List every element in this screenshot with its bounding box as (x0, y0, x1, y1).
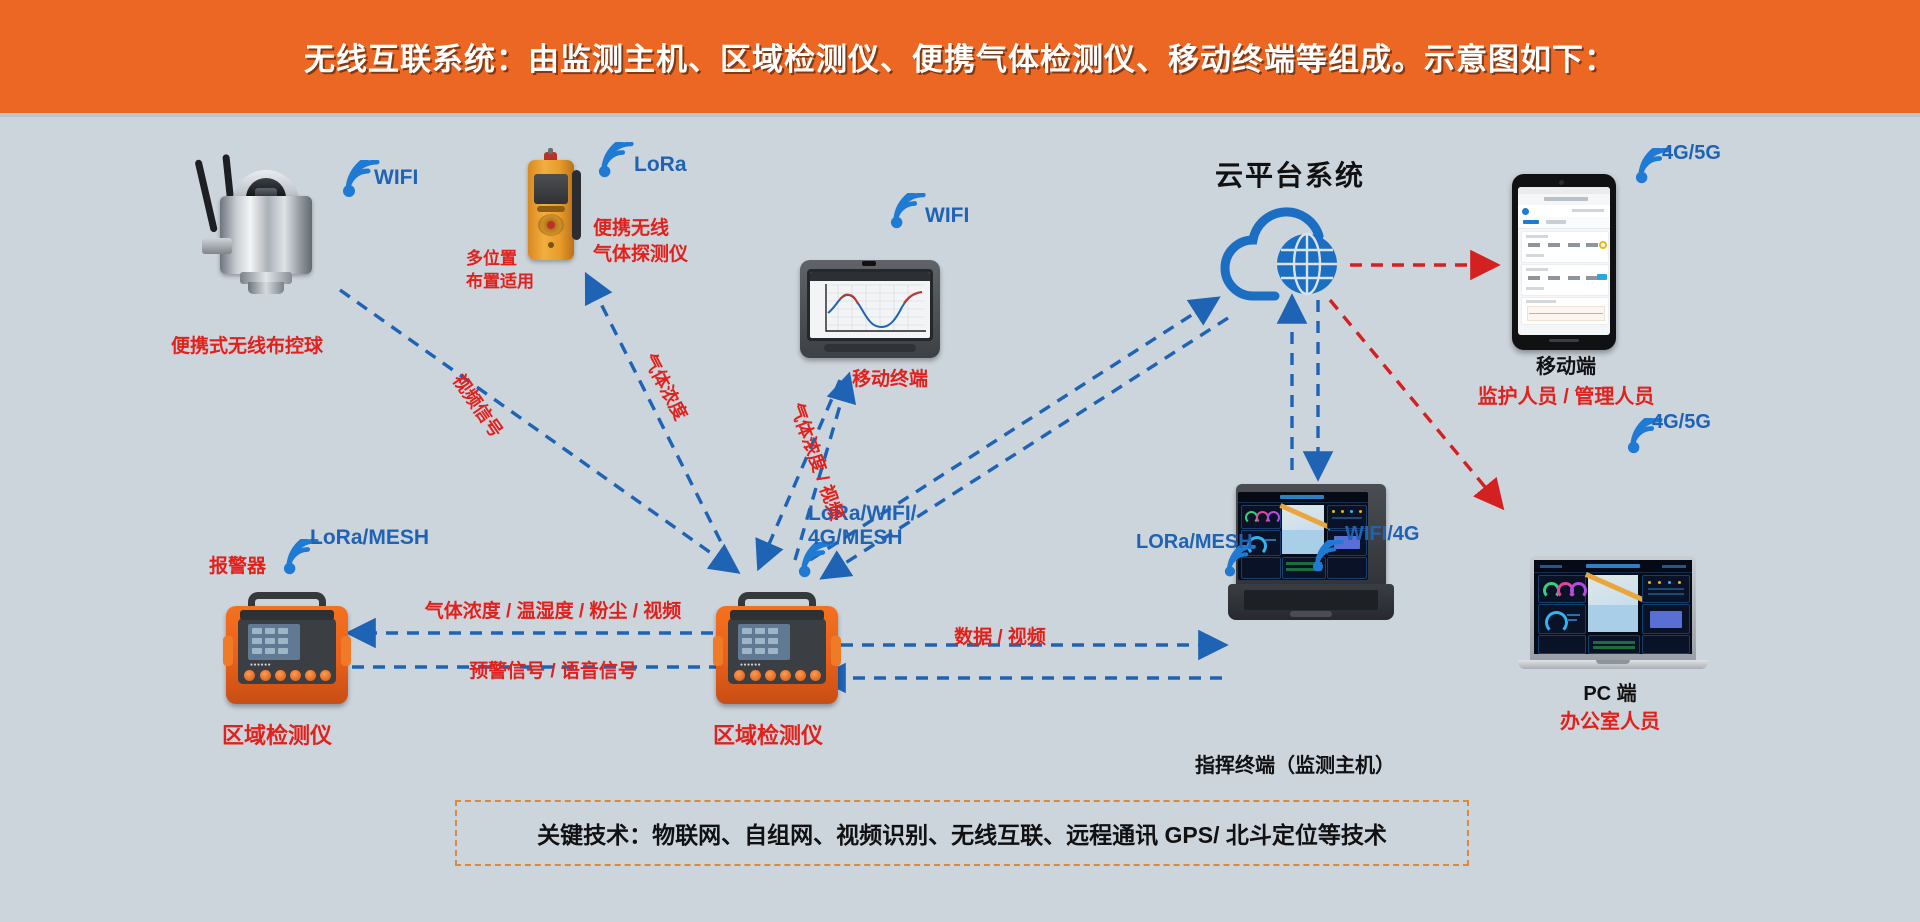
wifi-label-camera-ball: WIFI (374, 165, 418, 191)
pc-label: PC 端 (1583, 682, 1636, 707)
detector-bumper-left (713, 636, 723, 666)
wifi-icon-mobile-terminal (888, 193, 930, 231)
camera-ball-device (196, 148, 336, 298)
key-technologies-text: 关键技术：物联网、自组网、视频识别、无线互联、远程通讯 GPS/ 北斗定位等技术 (537, 816, 1387, 850)
camera-ball-label: 便携式无线布控球 (171, 335, 323, 359)
detector-speaker-hole (548, 242, 554, 248)
portable-detector-note-line1: 多位置 (466, 248, 517, 269)
lora-mesh-label-terminal: LORa/MESH (1136, 530, 1253, 555)
area-detector-left-label: 区域检测仪 (222, 722, 332, 750)
link-label-video-signal: 视频信号 (448, 370, 508, 442)
phone-tabs (1518, 217, 1610, 229)
link-label-detector-to-center: 气体浓度 / 温湿度 / 粉尘 / 视频 (425, 600, 682, 624)
phone-card-stats-1 (1521, 231, 1609, 263)
diagram-canvas: 无线互联系统：由监测主机、区域检测仪、便携气体检测仪、移动终端等组成。示意图如下… (0, 0, 1920, 922)
command-terminal-label: 指挥终端（监测主机） (1195, 754, 1395, 779)
antenna-left (194, 159, 217, 233)
tablet-bezel (807, 269, 933, 341)
area-detector-left-device: ●●●●●● (226, 592, 348, 704)
tablet-screen (810, 272, 930, 338)
detector-knob-row (242, 668, 332, 684)
tablet-bottom-bar (824, 344, 916, 352)
detector-keypad (538, 214, 564, 236)
lora-icon-portable-detector (596, 142, 638, 180)
lora-label-portable-detector: LoRa (634, 152, 687, 178)
phone-screen (1518, 187, 1610, 335)
laptop-base (1518, 660, 1708, 669)
mobile-phone-device (1512, 174, 1616, 350)
header-divider (0, 113, 1920, 117)
dashboard-header (1534, 560, 1692, 573)
phone-home-indicator (1549, 339, 1579, 342)
terminal-dashboard-header (1238, 492, 1368, 503)
wifi-4g-label-terminal: WIFI/4G (1345, 522, 1419, 547)
key-technologies-box: 关键技术：物联网、自组网、视频识别、无线互联、远程通讯 GPS/ 北斗定位等技术 (455, 800, 1469, 866)
terminal-touchpad (1290, 611, 1332, 617)
link-label-data-video: 数据 / 视频 (954, 626, 1046, 650)
lora-mesh-label-left-detector: LoRa/MESH (310, 525, 429, 551)
dashboard-widget-left-bottom (1538, 635, 1586, 654)
portable-gas-detector-device (528, 152, 588, 262)
area-detector-center-label: 区域检测仪 (713, 722, 823, 750)
dashboard-widget-center-bottom (1588, 635, 1640, 654)
dashboard-widget-video (1642, 604, 1690, 634)
cloud-platform-title: 云平台系统 (1215, 158, 1365, 193)
alarm-label: 报警器 (209, 555, 266, 579)
mobile-terminal-device (800, 260, 940, 358)
area-detector-center-device: ●●●●●● (716, 592, 838, 704)
laptop-screen (1534, 560, 1692, 654)
portable-detector-label-line1: 便携无线 (593, 217, 669, 241)
dashboard-widget-right-bottom (1642, 635, 1690, 654)
tablet-camera (862, 261, 876, 266)
detector-knob-row (732, 668, 822, 684)
detector-bumper-right (341, 636, 351, 666)
tablet-status-bar (810, 272, 930, 281)
dashboard-widget-bars (1642, 575, 1690, 603)
page-header: 无线互联系统：由监测主机、区域检测仪、便携气体检测仪、移动终端等组成。示意图如下… (0, 0, 1920, 113)
detector-bumper-left (223, 636, 233, 666)
camera-mount (202, 238, 232, 254)
terminal-widget-gauges (1241, 505, 1281, 529)
detector-bumper-right (831, 636, 841, 666)
detector-screen (534, 174, 568, 204)
cloud-globe-icon (1215, 200, 1365, 315)
detector-display (248, 624, 300, 660)
detector-clip (572, 170, 581, 240)
detector-top-vent (240, 610, 334, 620)
terminal-keyboard (1244, 590, 1378, 610)
link-label-center-to-detector: 预警信号 / 语音信号 (469, 660, 637, 684)
link-label-gas-concentration: 气体浓度 (638, 350, 692, 424)
dashboard-widget-dial (1538, 604, 1586, 634)
pc-role-label: 办公室人员 (1560, 710, 1660, 735)
camera-base-lower (248, 282, 284, 294)
connector-layer (0, 0, 1920, 922)
pc-laptop-device (1518, 556, 1708, 678)
phone-front-camera (1559, 180, 1564, 185)
tablet-chart-graphic (810, 281, 930, 338)
signal-label-phone: 4G/5G (1662, 141, 1721, 166)
phone-label: 移动端 (1536, 355, 1596, 380)
phone-card-chart (1521, 297, 1609, 325)
camera-body (220, 196, 312, 274)
phone-toolbar (1518, 205, 1610, 217)
wifi-label-mobile-terminal: WIFI (925, 203, 969, 229)
mobile-terminal-label: 移动终端 (852, 368, 928, 392)
page-title: 无线互联系统：由监测主机、区域检测仪、便携气体检测仪、移动终端等组成。示意图如下… (304, 34, 1616, 79)
detector-button-bar (537, 206, 565, 212)
wifi-4g-icon-terminal (1310, 540, 1348, 574)
signal-label-center-detector-line2: 4G/MESH (808, 525, 903, 551)
detector-top-vent (730, 610, 824, 620)
phone-status-bar (1518, 187, 1610, 194)
phone-role-label: 监护人员 / 管理人员 (1478, 385, 1655, 410)
portable-detector-label-line2: 气体探测仪 (593, 243, 688, 267)
phone-card-stats-2 (1521, 264, 1609, 296)
detector-display (738, 624, 790, 660)
dashboard-widget-gauges (1538, 575, 1586, 603)
portable-detector-note-line2: 布置适用 (466, 271, 534, 292)
signal-label-pc: 4G/5G (1652, 410, 1711, 435)
dashboard-map (1588, 575, 1638, 632)
